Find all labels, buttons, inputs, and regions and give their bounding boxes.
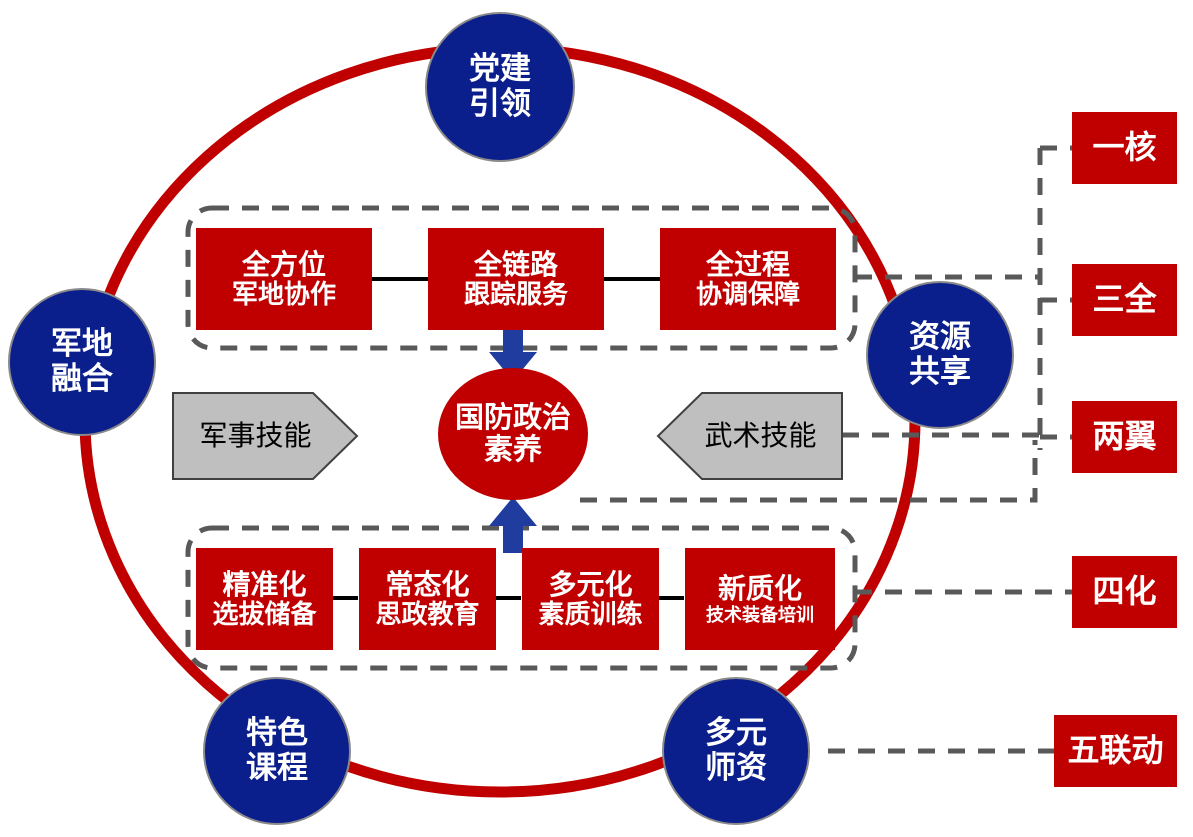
bottom-box-3-line1: 多元化 [548,569,632,600]
top-box-3-line1: 全过程 [706,249,790,280]
outer-circle-bottom-right-line1: 多元 [705,716,767,751]
outer-circle-right-line1: 资源 [909,320,971,355]
outer-circle-bottom-left[interactable]: 特色 课程 [203,677,351,825]
side-label-sanquan[interactable]: 三全 [1072,264,1177,336]
side-label-yihe[interactable]: 一核 [1072,112,1177,184]
outer-circle-bottom-right-line2: 师资 [705,751,767,786]
bottom-box-2-line2: 思政教育 [375,600,479,629]
outer-circle-right-line2: 共享 [909,355,971,390]
outer-circle-top-line1: 党建 [469,52,531,87]
side-label-wuliandong-text: 五联动 [1067,733,1163,769]
top-box-2-line1: 全链路 [474,249,558,280]
bottom-box-2[interactable]: 常态化 思政教育 [359,548,496,650]
top-box-1-line1: 全方位 [242,249,326,280]
diagram-canvas: 党建 引领 军地 融合 资源 共享 特色 课程 多元 师资 国防政治 素养 全方… [0,0,1193,837]
core-node-line1: 国防政治 [455,402,571,434]
outer-circle-top-line2: 引领 [469,87,531,122]
bottom-box-3-line2: 素质训练 [538,600,642,629]
outer-circle-bottom-left-line1: 特色 [246,716,308,751]
outer-circle-left[interactable]: 军地 融合 [8,288,156,436]
arrow-up-to-core [489,497,537,553]
bottom-box-1-line2: 选拔储备 [212,600,316,629]
side-label-liangyi-text: 两翼 [1092,419,1156,455]
outer-circle-right[interactable]: 资源 共享 [866,281,1014,429]
side-label-liangyi[interactable]: 两翼 [1072,401,1177,473]
top-box-2[interactable]: 全链路 跟踪服务 [428,228,604,330]
top-box-3-line2: 协调保障 [696,280,800,309]
outer-circle-bottom-right[interactable]: 多元 师资 [662,677,810,825]
side-label-sihua-text: 四化 [1092,574,1156,610]
side-label-sihua[interactable]: 四化 [1072,556,1177,628]
outer-circle-left-line2: 融合 [51,362,113,397]
top-box-1[interactable]: 全方位 军地协作 [196,228,372,330]
bottom-box-2-line1: 常态化 [385,569,469,600]
bottom-box-4-line1: 新质化 [718,573,802,604]
bottom-box-4-line2: 技术装备培训 [706,605,814,625]
bottom-box-4[interactable]: 新质化 技术装备培训 [685,548,835,650]
right-chevron-label: 武术技能 [704,420,816,451]
outer-circle-bottom-left-line2: 课程 [246,751,308,786]
bottom-box-3[interactable]: 多元化 素质训练 [522,548,659,650]
left-chevron[interactable]: 军事技能 [173,393,338,479]
bottom-box-1-line1: 精准化 [222,569,306,600]
outer-circle-left-line1: 军地 [51,327,113,362]
right-chevron[interactable]: 武术技能 [678,393,843,479]
side-label-wuliandong[interactable]: 五联动 [1054,715,1177,787]
core-node-line2: 素养 [484,434,542,466]
left-chevron-label: 军事技能 [199,420,311,451]
bottom-box-1[interactable]: 精准化 选拔储备 [196,548,333,650]
core-node[interactable]: 国防政治 素养 [438,368,588,500]
side-label-yihe-text: 一核 [1092,130,1156,166]
top-box-3[interactable]: 全过程 协调保障 [660,228,836,330]
top-box-2-line2: 跟踪服务 [464,280,568,309]
outer-circle-top[interactable]: 党建 引领 [425,12,575,162]
top-box-1-line2: 军地协作 [232,280,336,309]
side-label-sanquan-text: 三全 [1092,282,1156,318]
